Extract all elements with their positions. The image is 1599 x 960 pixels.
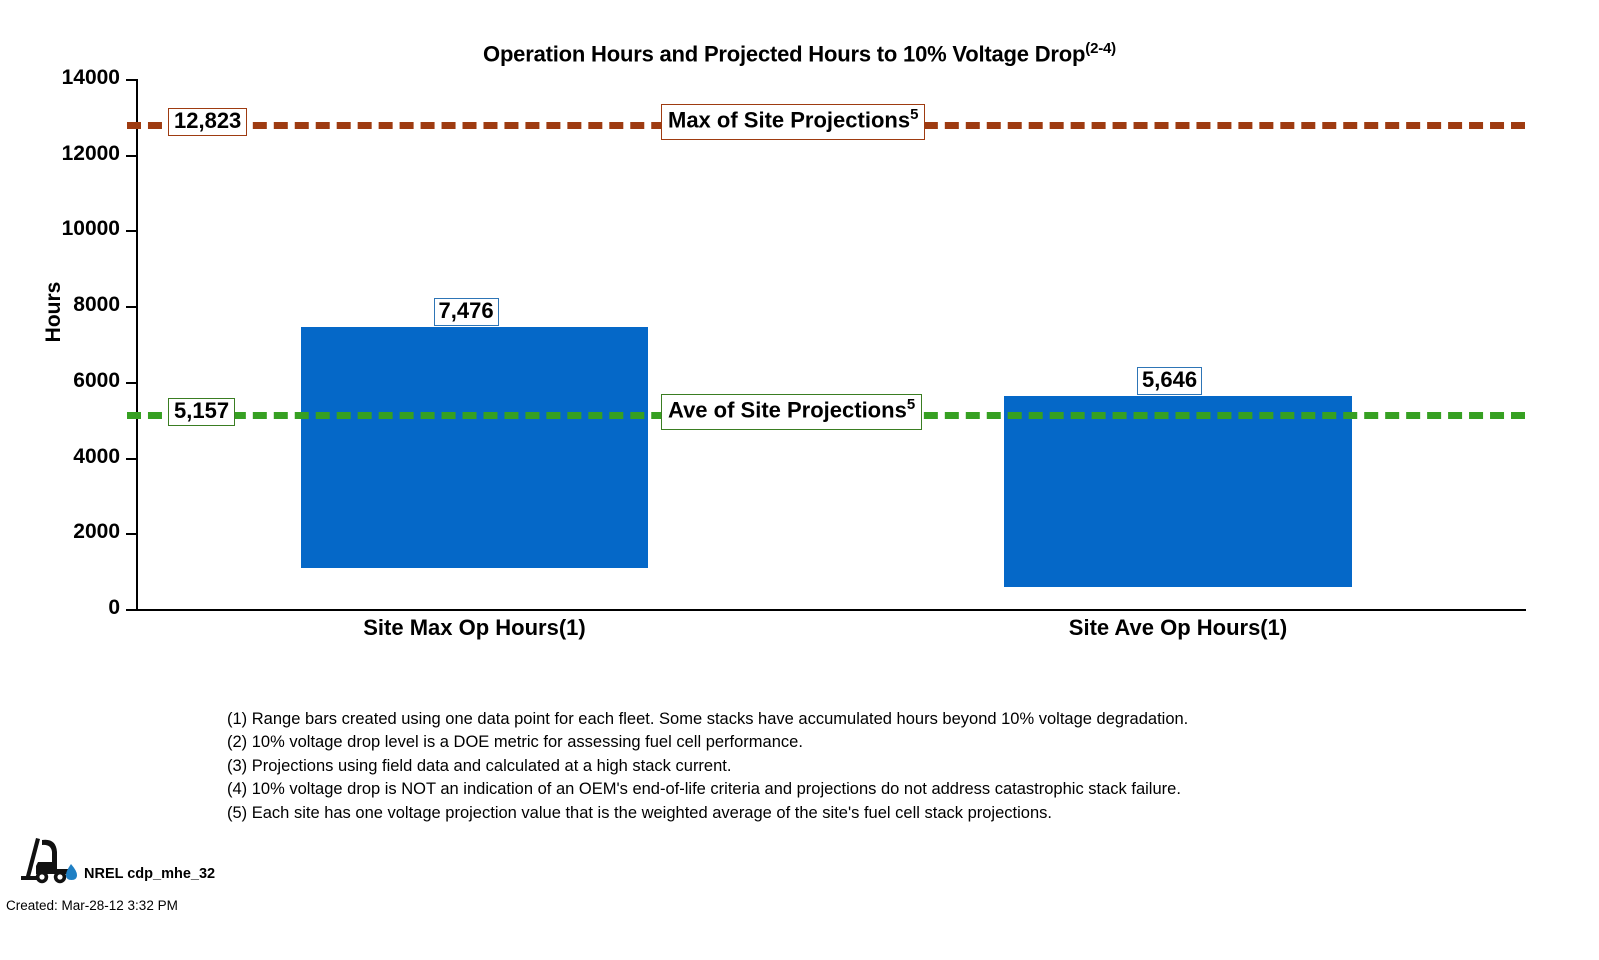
ave-projection-value-label: 5,157 <box>168 398 235 427</box>
footnotes-block: (1) Range bars created using one data po… <box>227 708 1427 825</box>
ave-projection-name-label: Ave of Site Projections5 <box>661 394 922 430</box>
y-tick-14000 <box>126 79 137 81</box>
forklift-icon <box>16 836 82 891</box>
created-timestamp: Created: Mar-28-12 3:32 PM <box>6 898 178 913</box>
chart-title-text: Operation Hours and Projected Hours to 1… <box>483 41 1085 66</box>
y-tick-label-2000: 2000 <box>0 520 120 544</box>
footnote-5: (5) Each site has one voltage projection… <box>227 802 1427 825</box>
footnote-2: (2) 10% voltage drop level is a DOE metr… <box>227 731 1427 754</box>
ave-projection-name-text: Ave of Site Projections <box>668 397 907 422</box>
chart-container: Operation Hours and Projected Hours to 1… <box>0 0 1599 960</box>
y-tick-label-14000: 14000 <box>0 66 120 90</box>
logo-row: NREL cdp_mhe_32 <box>4 836 324 888</box>
nrel-chart-id: NREL cdp_mhe_32 <box>84 866 215 882</box>
y-tick-2000 <box>126 533 137 535</box>
ave-projection-name-superscript: 5 <box>907 396 915 413</box>
chart-title-superscript: (2-4) <box>1085 40 1116 57</box>
y-tick-8000 <box>126 306 137 308</box>
plot-area: 7,476 5,646 12,823 5,157 Max of Site Pro… <box>137 80 1525 610</box>
credit-block: NREL cdp_mhe_32 Created: Mar-28-12 3:32 … <box>4 836 324 888</box>
y-tick-4000 <box>126 458 137 460</box>
y-tick-label-10000: 10000 <box>0 217 120 241</box>
max-projection-name-label: Max of Site Projections5 <box>661 104 925 140</box>
max-projection-name-text: Max of Site Projections <box>668 107 910 132</box>
y-tick-10000 <box>126 230 137 232</box>
y-tick-0 <box>126 609 137 611</box>
footnote-3: (3) Projections using field data and cal… <box>227 755 1427 778</box>
bar-site-max-op-hours[interactable] <box>301 327 648 568</box>
y-tick-label-8000: 8000 <box>0 293 120 317</box>
x-axis-label-site-max: Site Max Op Hours(1) <box>295 615 655 641</box>
max-projection-value-label: 12,823 <box>168 108 247 137</box>
y-tick-6000 <box>126 382 137 384</box>
max-projection-name-superscript: 5 <box>910 106 918 123</box>
y-tick-label-4000: 4000 <box>0 445 120 469</box>
y-tick-label-0: 0 <box>0 596 120 620</box>
footnote-1: (1) Range bars created using one data po… <box>227 708 1427 731</box>
y-tick-label-6000: 6000 <box>0 369 120 393</box>
footnote-4: (4) 10% voltage drop is NOT an indicatio… <box>227 778 1427 801</box>
x-axis-label-site-ave: Site Ave Op Hours(1) <box>998 615 1358 641</box>
bar-value-label-site-ave: 5,646 <box>1137 367 1202 395</box>
y-tick-label-12000: 12000 <box>0 142 120 166</box>
chart-title: Operation Hours and Projected Hours to 1… <box>0 40 1599 67</box>
bar-value-label-site-max: 7,476 <box>434 298 499 326</box>
bar-site-ave-op-hours[interactable] <box>1004 396 1352 587</box>
y-tick-12000 <box>126 155 137 157</box>
